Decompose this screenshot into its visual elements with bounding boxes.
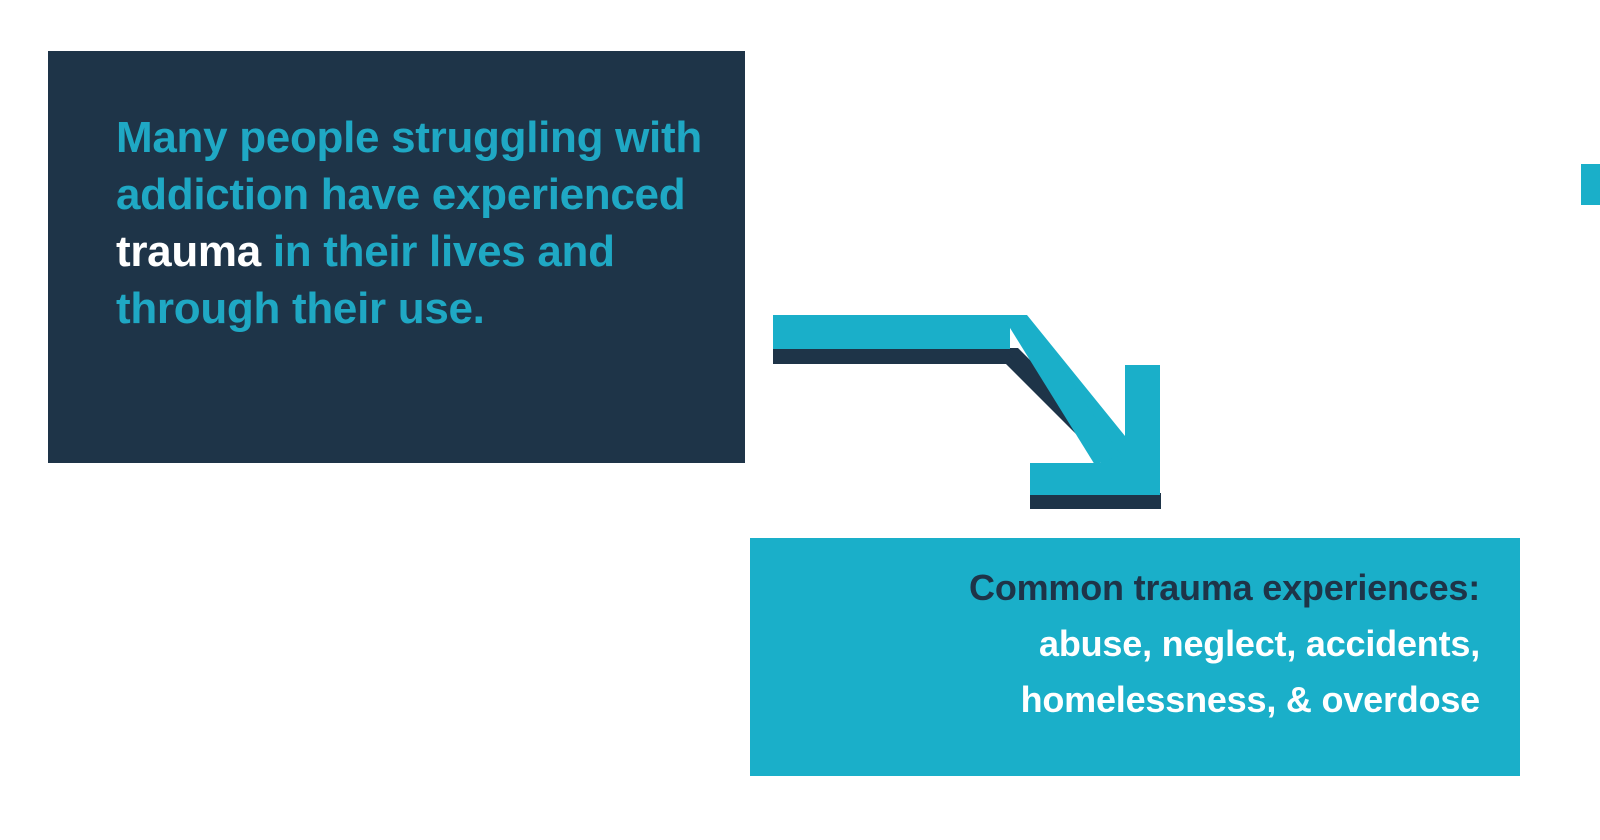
statement-segment-lead: Many people struggling with addiction ha… xyxy=(116,113,702,219)
examples-panel: Common trauma experiences: abuse, neglec… xyxy=(750,538,1520,776)
statement-text: Many people struggling with addiction ha… xyxy=(116,109,711,337)
examples-text: Common trauma experiences: abuse, neglec… xyxy=(790,560,1480,728)
statement-highlight-trauma: trauma xyxy=(116,227,261,276)
examples-heading: Common trauma experiences: xyxy=(969,567,1480,608)
slide-canvas: Many people struggling with addiction ha… xyxy=(0,0,1600,840)
elbow-arrow-down-right-icon xyxy=(765,305,1175,520)
examples-items-line-2: homelessness, & overdose xyxy=(1021,679,1480,720)
edge-accent-mark xyxy=(1581,164,1600,205)
arrow-fill-layer xyxy=(773,315,1160,495)
examples-items-line-1: abuse, neglect, accidents, xyxy=(1039,623,1480,664)
statement-panel: Many people struggling with addiction ha… xyxy=(48,51,745,463)
